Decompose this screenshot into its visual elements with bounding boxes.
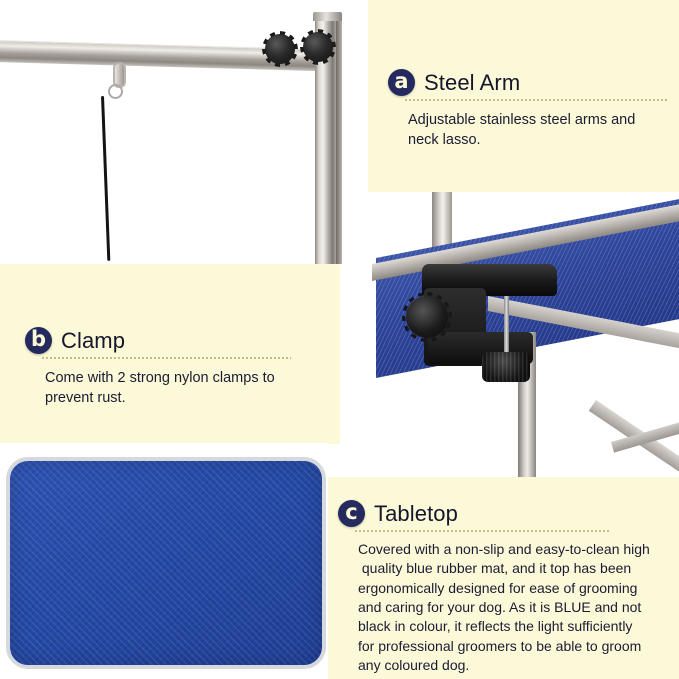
body-line: for professional groomers to be able to … bbox=[358, 637, 650, 656]
steel-post-edge bbox=[336, 18, 342, 264]
body-line: Come with 2 strong nylon clamps to bbox=[45, 369, 275, 389]
body-line: ergonomically designed for ease of groom… bbox=[358, 579, 650, 598]
body-line: Covered with a non-slip and easy-to-clea… bbox=[358, 540, 650, 559]
body-line: black in colour, it reflects the light s… bbox=[358, 617, 650, 636]
feature-title-clamp: Clamp bbox=[61, 328, 125, 354]
lasso-cord bbox=[101, 96, 110, 261]
clamp-photo bbox=[368, 192, 679, 477]
clamp-screw-shaft bbox=[504, 296, 509, 356]
badge-a-icon: a bbox=[388, 69, 415, 96]
feature-panel-steel-arm bbox=[368, 0, 679, 192]
body-line: any coloured dog. bbox=[358, 656, 650, 675]
divider-clamp bbox=[41, 357, 291, 359]
body-line: quality blue rubber mat, and it top has … bbox=[358, 559, 650, 578]
divider-tabletop bbox=[354, 530, 610, 532]
blue-rubber-mat-photo bbox=[0, 443, 328, 679]
feature-title-tabletop: Tabletop bbox=[374, 501, 458, 527]
badge-b-icon: b bbox=[25, 327, 52, 354]
feature-body-steel-arm: Adjustable stainless steel arms and neck… bbox=[408, 111, 635, 150]
arm-knob-right bbox=[303, 32, 333, 62]
feature-heading-steel-arm: a Steel Arm bbox=[388, 69, 520, 96]
divider-steel-arm bbox=[404, 99, 669, 101]
feature-body-clamp: Come with 2 strong nylon clamps to preve… bbox=[45, 369, 275, 408]
arm-knob-left bbox=[265, 34, 295, 64]
infographic-sheet: a Steel Arm Adjustable stainless steel a… bbox=[0, 0, 679, 679]
feature-body-tabletop: Covered with a non-slip and easy-to-clea… bbox=[358, 540, 650, 675]
steel-post-cap bbox=[313, 12, 342, 21]
feature-panel-clamp bbox=[0, 264, 340, 444]
lasso-clip-ring bbox=[108, 84, 123, 99]
rubber-mat-surface bbox=[6, 457, 326, 669]
clamp-gear-knob bbox=[406, 296, 448, 338]
feature-heading-tabletop: c Tabletop bbox=[338, 500, 458, 527]
body-line: Adjustable stainless steel arms and bbox=[408, 111, 635, 131]
body-line: and caring for your dog. As it is BLUE a… bbox=[358, 598, 650, 617]
steel-arm-photo bbox=[0, 0, 368, 264]
clamp-tightening-knob bbox=[482, 352, 530, 382]
feature-title-steel-arm: Steel Arm bbox=[424, 70, 520, 96]
feature-heading-clamp: b Clamp bbox=[25, 327, 125, 354]
badge-c-icon: c bbox=[338, 500, 365, 527]
body-line: prevent rust. bbox=[45, 389, 275, 409]
body-line: neck lasso. bbox=[408, 131, 635, 151]
